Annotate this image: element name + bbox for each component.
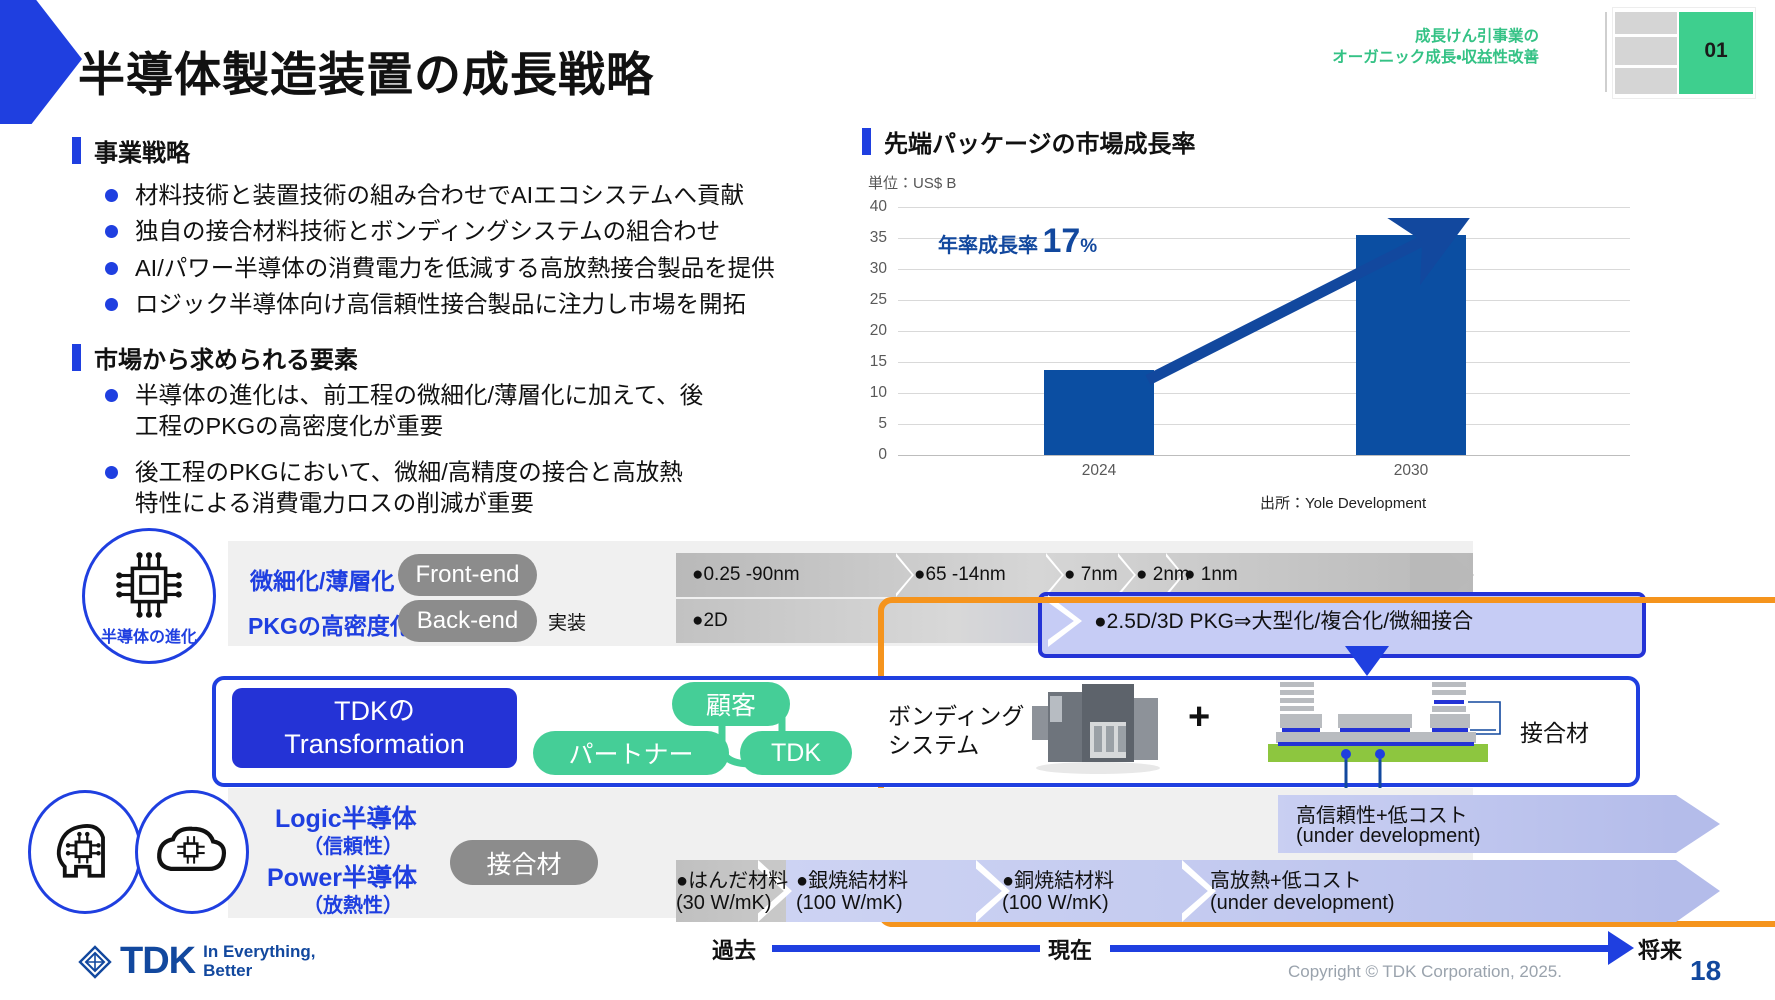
- cloud-chip-icon: [154, 819, 230, 885]
- pager-cell-left-3: [1615, 68, 1677, 94]
- y-tick-label: 10: [853, 384, 887, 402]
- power-material-line2: (30 W/mK): [676, 892, 772, 915]
- header-category: 成長けん引事業の オーガニック成長・収益性改善: [1332, 26, 1539, 69]
- pager-number: 01: [1679, 36, 1753, 66]
- list-item-label: 独自の接合材料技術とボンディングシステムの組合わせ: [135, 216, 720, 247]
- frontend-jp-label: 微細化/薄層化: [250, 562, 394, 596]
- logic-material-arrowhead: [1676, 795, 1720, 853]
- logic-semiconductor-ring: [28, 790, 142, 914]
- bonding-machine-icon: [1020, 678, 1175, 778]
- x-tick-label: 2024: [1044, 462, 1154, 480]
- bonding-system-label: ボンディング システム: [888, 702, 1024, 760]
- pager-grid: 01: [1613, 8, 1755, 98]
- timeline-past-label: 過去: [712, 933, 756, 965]
- tdk-logo-text: TDK: [120, 940, 195, 983]
- section-bar-icon: [862, 128, 871, 155]
- logic-sub-label: （信頼性）: [303, 830, 403, 859]
- plus-sign-icon: +: [1188, 696, 1210, 739]
- power-material-line1: ●はんだ材料: [676, 864, 788, 893]
- frontend-step-track: ●0.25 -90nm ●65 -14nm ● 7nm ● 2nm ● 1nm: [676, 553, 1473, 597]
- slide-page-number: 18: [1690, 955, 1721, 987]
- bonding-system-line2: システム: [888, 731, 1024, 760]
- tdk-transformation-box: TDKの Transformation: [232, 688, 517, 768]
- logic-material-block: 高信頼性+低コスト (under development): [1278, 795, 1676, 853]
- tdk-tagline-line2: Better: [203, 962, 315, 980]
- section-bar-icon: [72, 137, 81, 164]
- list-item: AI/パワー半導体の消費電力を低減する高放熱接合製品を提供: [105, 253, 805, 284]
- cagr-annotation: 年率成長率 17%: [938, 222, 1097, 261]
- growth-arrow-icon: [1140, 218, 1470, 388]
- list-item-label: ロジック半導体向け高信頼性接合製品に注力し市場を開拓: [135, 289, 746, 320]
- y-tick-label: 30: [853, 260, 887, 278]
- tdk-transformation-line2: Transformation: [284, 728, 465, 761]
- bullet-list-market-requirements: 半導体の進化は、前工程の微細化/薄層化に加えて、後 工程のPKGの高密度化が重要…: [105, 380, 805, 525]
- bullet-dot-icon: [105, 466, 118, 479]
- power-sub-label: （放熱性）: [303, 889, 403, 918]
- frontend-step: ● 1nm: [1168, 553, 1238, 597]
- section-pager: 01: [1553, 8, 1753, 94]
- oval-partner: パートナー: [533, 731, 729, 775]
- bullet-list-business-strategy: 材料技術と装置技術の組み合わせでAIエコシステムへ貢献 独自の接合材料技術とボン…: [105, 180, 805, 326]
- bar-2030: [1356, 235, 1466, 455]
- backend-pill: Back-end: [398, 600, 537, 642]
- corner-accent-arrow: [0, 0, 82, 124]
- logic-material-line1: 高信頼性+低コスト: [1296, 799, 1468, 828]
- list-item: 半導体の進化は、前工程の微細化/薄層化に加えて、後 工程のPKGの高密度化が重要: [105, 380, 805, 443]
- tdk-tagline-line1: In Everything,: [203, 943, 315, 961]
- gridline: [898, 424, 1630, 425]
- section-heading-market-growth: 先端パッケージの市場成長率: [862, 124, 1196, 159]
- list-item-label: AI/パワー半導体の消費電力を低減する高放熱接合製品を提供: [135, 253, 775, 284]
- list-item: ロジック半導体向け高信頼性接合製品に注力し市場を開拓: [105, 289, 805, 320]
- power-material-line1: ●銅焼結材料: [1002, 864, 1114, 893]
- bonding-system-line1: ボンディング: [888, 702, 1024, 731]
- timeline-future-label: 将来: [1638, 933, 1682, 965]
- y-tick-label: 0: [853, 446, 887, 464]
- frontend-pill: Front-end: [398, 554, 537, 596]
- gridline: [898, 269, 1630, 270]
- backend-jp-label: PKGの高密度化: [248, 607, 413, 641]
- tdk-tagline: In Everything, Better: [203, 943, 315, 980]
- oval-customer: 顧客: [672, 682, 790, 726]
- semiconductor-evolution-label: 半導体の進化: [79, 623, 219, 647]
- tdk-transformation-line1: TDKの: [334, 695, 415, 728]
- y-tick-label: 5: [853, 415, 887, 433]
- power-material-line1: 高放熱+低コスト: [1210, 864, 1362, 893]
- page-title: 半導体製造装置の成長戦略: [78, 36, 654, 105]
- section-heading-business-strategy: 事業戦略: [72, 133, 190, 168]
- semiconductor-evolution-ring: 半導体の進化: [82, 528, 216, 664]
- section-heading-text: 先端パッケージの市場成長率: [884, 124, 1196, 159]
- bonding-material-callout: 接合材: [1520, 714, 1589, 748]
- section-bar-icon: [72, 344, 81, 371]
- bar-2024: [1044, 370, 1154, 455]
- chart-unit-label: 単位：US$ B: [868, 172, 956, 193]
- section-heading-market-requirements: 市場から求められる要素: [72, 340, 358, 375]
- frontend-step: ●0.25 -90nm: [676, 553, 800, 597]
- list-item-label: 後工程のPKGにおいて、微細/高精度の接合と高放熱 特性による消費電力ロスの削減…: [135, 457, 683, 520]
- pager-cell-left-2: [1615, 37, 1677, 65]
- power-material-track: ●はんだ材料 (30 W/mK) ●銀焼結材料 (100 W/mK) ●銅焼結材…: [676, 860, 1676, 922]
- frontend-step: ●65 -14nm: [898, 553, 1006, 597]
- backend-sub-label: 実装: [548, 608, 586, 635]
- cagr-percent: %: [1080, 236, 1097, 257]
- tdk-logo: TDK In Everything, Better: [78, 940, 316, 983]
- materials-pill: 接合材: [450, 840, 598, 885]
- list-item-label: 材料技術と装置技術の組み合わせでAIエコシステムへ貢献: [135, 180, 744, 211]
- cagr-label: 年率成長率: [938, 235, 1038, 257]
- power-material-line2: (under development): [1210, 892, 1395, 915]
- bullet-dot-icon: [105, 225, 118, 238]
- gridline: [898, 300, 1630, 301]
- y-tick-label: 40: [853, 198, 887, 216]
- gridline: [898, 207, 1630, 208]
- frontend-step: ● 7nm: [1048, 553, 1118, 597]
- timeline-line-present: [1110, 945, 1612, 952]
- pager-cell-left-1: [1615, 12, 1677, 34]
- gridline: [898, 393, 1630, 394]
- copyright-text: Copyright © TDK Corporation, 2025.: [1288, 962, 1562, 982]
- pager-track: [1605, 12, 1607, 92]
- header-category-line1: 成長けん引事業の: [1332, 26, 1539, 47]
- oval-tdk: TDK: [740, 731, 852, 775]
- chart-source: 出所：Yole Development: [1260, 492, 1426, 513]
- y-tick-label: 20: [853, 322, 887, 340]
- axis-baseline: [898, 455, 1630, 456]
- y-tick-label: 25: [853, 291, 887, 309]
- list-item: 材料技術と装置技術の組み合わせでAIエコシステムへ貢献: [105, 180, 805, 211]
- y-tick-label: 15: [853, 353, 887, 371]
- logic-material-line2: (under development): [1296, 825, 1481, 848]
- bullet-dot-icon: [105, 389, 118, 402]
- timeline-line-past: [772, 945, 1040, 952]
- bullet-dot-icon: [105, 189, 118, 202]
- section-heading-text: 市場から求められる要素: [94, 340, 358, 375]
- tdk-diamond-icon: [78, 945, 112, 979]
- bullet-dot-icon: [105, 262, 118, 275]
- power-material-arrowhead: [1676, 860, 1720, 922]
- power-semiconductor-ring: [135, 790, 249, 914]
- list-item: 後工程のPKGにおいて、微細/高精度の接合と高放熱 特性による消費電力ロスの削減…: [105, 457, 805, 520]
- gridline: [898, 362, 1630, 363]
- bullet-dot-icon: [105, 298, 118, 311]
- cagr-value: 17: [1042, 222, 1080, 260]
- power-material-line2: (100 W/mK): [796, 892, 903, 915]
- gridline: [898, 331, 1630, 332]
- list-item-label: 半導体の進化は、前工程の微細化/薄層化に加えて、後 工程のPKGの高密度化が重要: [135, 380, 703, 443]
- section-heading-text: 事業戦略: [94, 133, 190, 168]
- y-tick-label: 35: [853, 229, 887, 247]
- list-item: 独自の接合材料技術とボンディングシステムの組合わせ: [105, 216, 805, 247]
- timeline-arrowhead-icon: [1608, 931, 1634, 965]
- chip-icon: [111, 547, 187, 623]
- x-tick-label: 2030: [1356, 462, 1466, 480]
- power-material-line2: (100 W/mK): [1002, 892, 1109, 915]
- timeline-present-label: 現在: [1048, 933, 1092, 965]
- backend-step-past: ●2D: [676, 599, 728, 643]
- power-material-line1: ●銀焼結材料: [796, 864, 908, 893]
- gridline: [898, 238, 1630, 239]
- header-category-line2: オーガニック成長・収益性改善: [1332, 47, 1539, 68]
- brain-chip-icon: [49, 815, 121, 887]
